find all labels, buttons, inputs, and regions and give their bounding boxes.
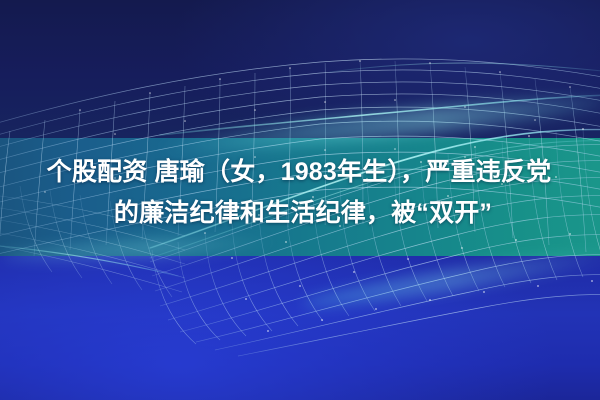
bright-blue-region [0,256,600,400]
dark-navy-region [0,0,600,138]
headline-line-1: 个股配资 唐瑜（女，1983年生），严重违反党 [0,152,600,193]
headline-text: 个股配资 唐瑜（女，1983年生），严重违反党 的廉洁纪律和生活纪律，被“双开” [0,152,600,234]
headline-line-2: 的廉洁纪律和生活纪律，被“双开” [0,193,600,234]
banner-image: 个股配资 唐瑜（女，1983年生），严重违反党 的廉洁纪律和生活纪律，被“双开” [0,0,600,400]
